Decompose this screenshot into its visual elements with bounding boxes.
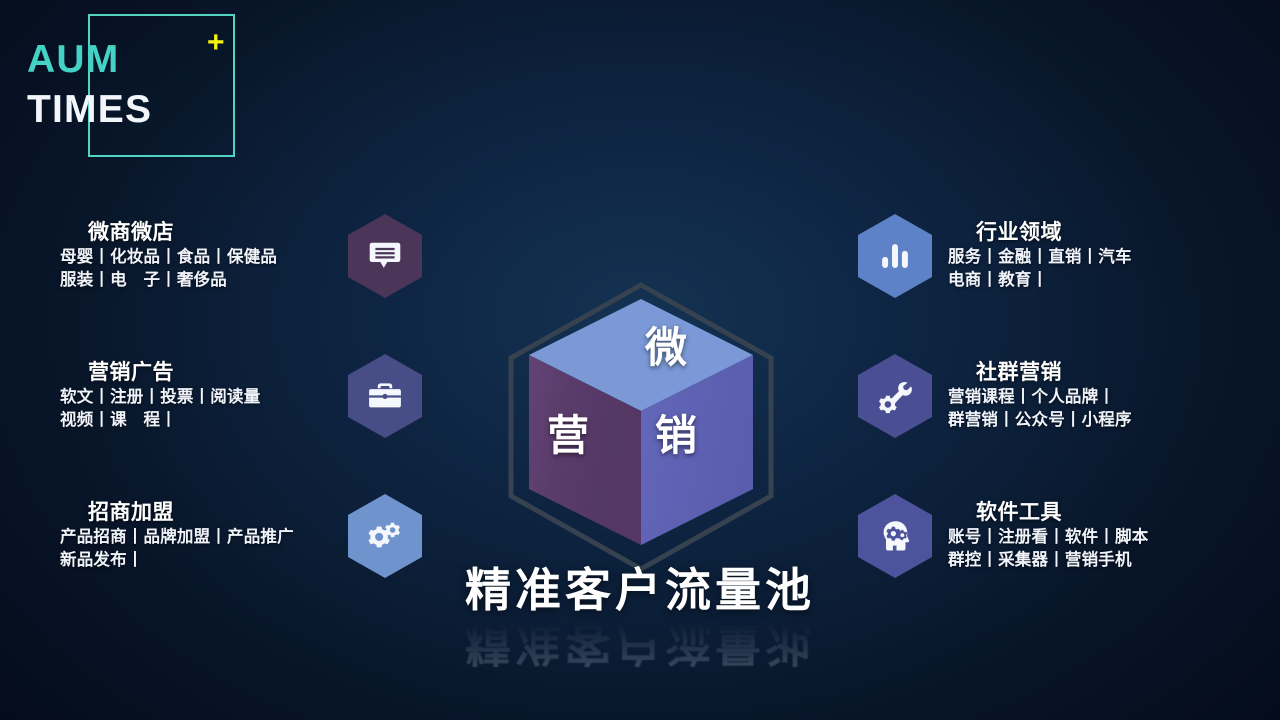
isometric-cube: 微 营 销	[527, 297, 755, 547]
feature-item-right-2[interactable]: 社群营销 营销课程丨个人品牌丨 群营销丨公众号丨小程序	[948, 360, 1233, 450]
feature-item-right-1[interactable]: 行业领域 服务丨金融丨直销丨汽车 电商丨教育丨	[948, 220, 1233, 310]
wrench-gear-icon	[877, 378, 913, 414]
feature-badge-right-2[interactable]	[858, 354, 932, 438]
feature-item-left-1[interactable]: 微商微店 母婴丨化妆品丨食品丨保健品 服装丨电 子丨奢侈品	[60, 220, 330, 310]
page-title: 精准客户流量池	[0, 566, 1280, 616]
page-title-reflection: 精准客户流量池	[0, 618, 1280, 668]
feature-title: 招商加盟	[60, 500, 330, 526]
head-gears-icon	[877, 518, 913, 554]
feature-line: 营销课程丨个人品牌丨	[948, 386, 1233, 409]
briefcase-icon	[367, 378, 403, 414]
feature-line: 账号丨注册看丨软件丨脚本	[948, 526, 1233, 549]
gears-icon	[367, 518, 403, 554]
logo-line-1: AUM	[27, 40, 119, 79]
logo-line-2: TIMES	[27, 90, 152, 129]
feature-line: 服装丨电 子丨奢侈品	[60, 269, 330, 292]
feature-title: 社群营销	[948, 360, 1233, 386]
feature-badge-left-2[interactable]	[348, 354, 422, 438]
brand-logo: + AUM TIMES	[22, 8, 262, 163]
feature-line: 母婴丨化妆品丨食品丨保健品	[60, 246, 330, 269]
feature-title: 微商微店	[60, 220, 330, 246]
feature-title: 营销广告	[60, 360, 330, 386]
feature-title: 行业领域	[948, 220, 1233, 246]
feature-line: 产品招商丨品牌加盟丨产品推广	[60, 526, 330, 549]
feature-line: 服务丨金融丨直销丨汽车	[948, 246, 1233, 269]
speech-bubble-icon	[367, 238, 403, 274]
plus-icon: +	[207, 28, 225, 58]
feature-badge-left-1[interactable]	[348, 214, 422, 298]
headline-block: 精准客户流量池 精准客户流量池	[0, 566, 1280, 667]
feature-item-left-2[interactable]: 营销广告 软文丨注册丨投票丨阅读量 视频丨课 程丨	[60, 360, 330, 450]
bar-chart-icon	[877, 238, 913, 274]
feature-line: 软文丨注册丨投票丨阅读量	[60, 386, 330, 409]
feature-line: 电商丨教育丨	[948, 269, 1233, 292]
feature-title: 软件工具	[948, 500, 1233, 526]
slide-canvas: + AUM TIMES 微商微店 母婴丨化妆品丨食品丨保健品 服装丨电 子丨奢侈…	[0, 0, 1280, 720]
feature-line: 视频丨课 程丨	[60, 409, 330, 432]
feature-line: 群营销丨公众号丨小程序	[948, 409, 1233, 432]
feature-badge-right-1[interactable]	[858, 214, 932, 298]
